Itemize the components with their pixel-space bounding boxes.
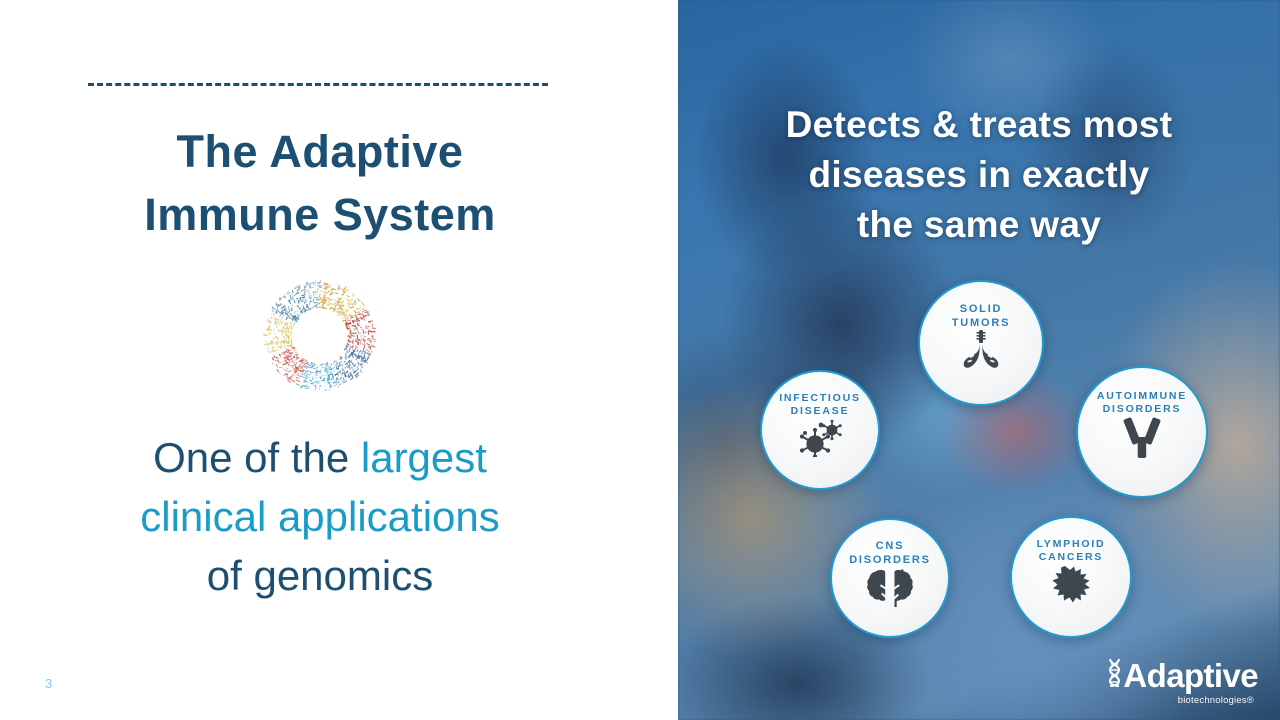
tagline-line-2: clinical applications bbox=[40, 487, 600, 546]
bubble-cns-disorders[interactable]: CNS DISORDERS bbox=[830, 518, 950, 638]
bubble-solid-tumors[interactable]: SOLID TUMORS bbox=[918, 280, 1044, 406]
page-title: The Adaptive Immune System bbox=[40, 120, 600, 246]
logo-wordmark-row: Adaptive bbox=[1107, 658, 1258, 694]
bubble-label-autoimmune-disorders: AUTOIMMUNE DISORDERS bbox=[1097, 390, 1187, 417]
tagline-line-3: of genomics bbox=[40, 546, 600, 605]
bubble-label-line-2: DISEASE bbox=[779, 405, 861, 418]
tagline-part-1: One of the bbox=[153, 434, 361, 481]
bubble-label-line-2: CANCERS bbox=[1037, 551, 1106, 564]
tumor-cell-icon bbox=[1051, 565, 1091, 603]
bubble-autoimmune-disorders[interactable]: AUTOIMMUNE DISORDERS bbox=[1076, 366, 1208, 498]
bubble-label-lymphoid-cancers: LYMPHOID CANCERS bbox=[1037, 538, 1106, 565]
tagline-highlight-1: largest bbox=[361, 434, 487, 481]
bubble-label-line-1: AUTOIMMUNE bbox=[1097, 390, 1187, 403]
virus-icon bbox=[796, 419, 844, 457]
bubble-label-cns-disorders: CNS DISORDERS bbox=[849, 539, 931, 567]
bubble-label-solid-tumors: SOLID TUMORS bbox=[952, 302, 1010, 330]
top-dashed-divider bbox=[88, 83, 548, 86]
page-title-line-2: Immune System bbox=[40, 183, 600, 246]
headline: Detects & treats most diseases in exactl… bbox=[678, 100, 1280, 250]
tagline: One of the largest clinical applications… bbox=[40, 428, 600, 605]
bubble-label-line-1: SOLID bbox=[952, 302, 1010, 316]
logo-wordmark-text: Adaptive bbox=[1123, 659, 1258, 693]
headline-line-1: Detects & treats most bbox=[678, 100, 1280, 150]
genomic-circos-donut-graphic bbox=[262, 278, 378, 394]
page-title-line-1: The Adaptive bbox=[40, 120, 600, 183]
bubble-label-line-2: TUMORS bbox=[952, 316, 1010, 330]
logo-subtext: biotechnologies® bbox=[1107, 695, 1254, 706]
brain-icon bbox=[867, 567, 913, 607]
right-image-panel: Detects & treats most diseases in exactl… bbox=[678, 0, 1280, 720]
slide-number: 3 bbox=[45, 676, 52, 691]
bubble-label-line-2: DISORDERS bbox=[849, 553, 931, 567]
dna-helix-icon bbox=[1107, 658, 1122, 694]
bubble-label-line-1: CNS bbox=[849, 539, 931, 553]
left-text-panel: The Adaptive Immune System One of the la… bbox=[0, 0, 678, 720]
bubble-label-line-1: INFECTIOUS bbox=[779, 392, 861, 405]
antibody-icon bbox=[1122, 417, 1162, 459]
tagline-line-1: One of the largest bbox=[40, 428, 600, 487]
lungs-icon bbox=[960, 330, 1002, 368]
headline-line-2: diseases in exactly bbox=[678, 150, 1280, 200]
bubble-lymphoid-cancers[interactable]: LYMPHOID CANCERS bbox=[1010, 516, 1132, 638]
bubble-infectious-disease[interactable]: INFECTIOUS DISEASE bbox=[760, 370, 880, 490]
adaptive-biotechnologies-logo: Adaptive biotechnologies® bbox=[1107, 658, 1258, 706]
headline-line-3: the same way bbox=[678, 200, 1280, 250]
bubble-label-infectious-disease: INFECTIOUS DISEASE bbox=[779, 392, 861, 419]
presentation-slide: The Adaptive Immune System One of the la… bbox=[0, 0, 1280, 720]
bubble-label-line-2: DISORDERS bbox=[1097, 403, 1187, 416]
bubble-label-line-1: LYMPHOID bbox=[1037, 538, 1106, 551]
